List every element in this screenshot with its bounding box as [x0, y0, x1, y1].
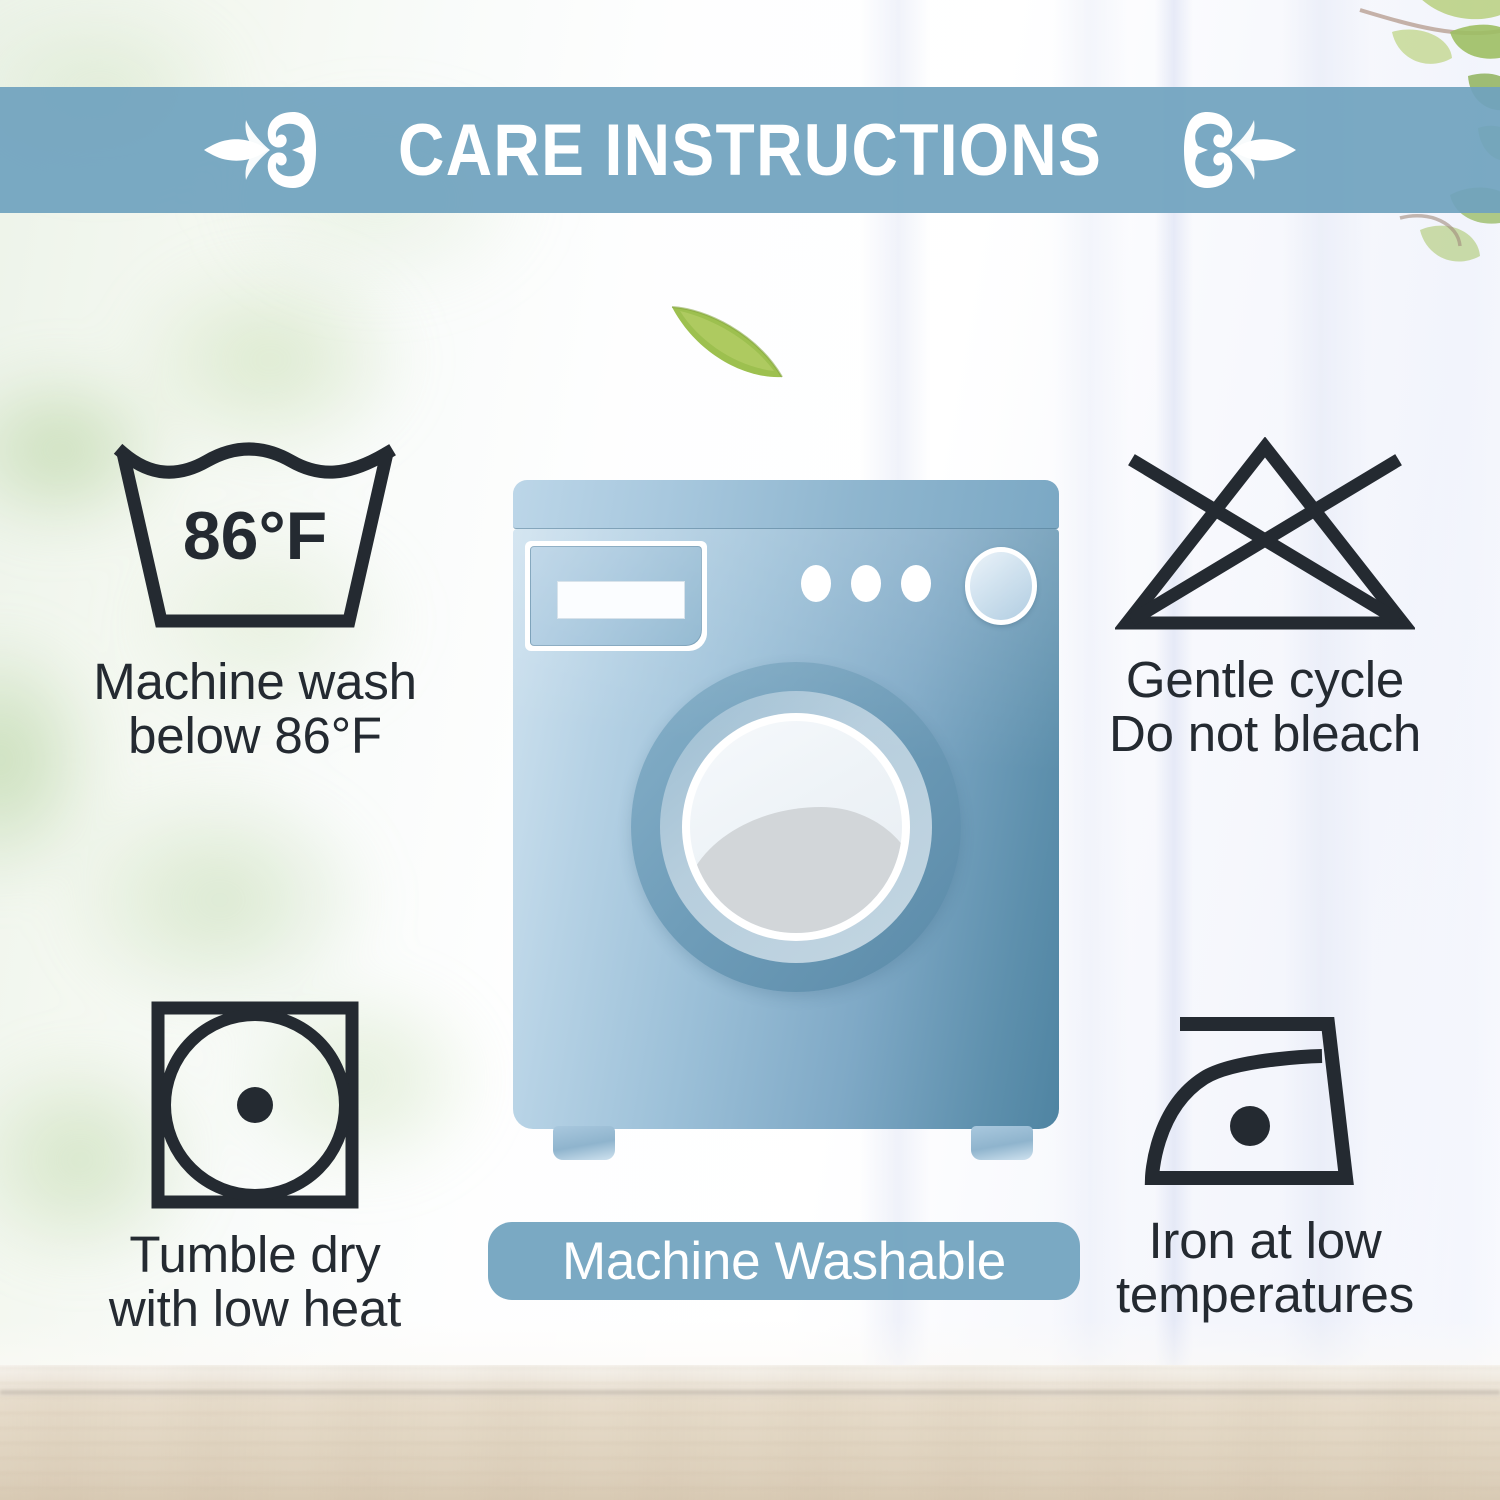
fleur-de-lis-ornament-icon-left: [198, 102, 316, 198]
washer-door-glass: [690, 721, 902, 933]
instruction-iron-low-temp: Iron at low temperatures: [1040, 1000, 1490, 1322]
fleur-de-lis-ornament-icon-right: [1184, 102, 1302, 198]
detergent-drawer-face: [530, 546, 702, 646]
indicator-lights: [801, 565, 931, 602]
iron-low-temperature-icon: [1140, 1000, 1390, 1196]
instruction-gentle-cycle-no-bleach: Gentle cycle Do not bleach: [1040, 437, 1490, 761]
wash-temperature-value: 86°F: [183, 498, 327, 574]
page-title: CARE INSTRUCTIONS: [398, 114, 1102, 187]
washer-body: [513, 529, 1059, 1129]
detergent-drawer[interactable]: [525, 541, 707, 651]
indicator-light-1: [801, 565, 831, 602]
laundry-inside-drum: [690, 807, 902, 933]
instruction-caption-gentle-cycle: Gentle cycle Do not bleach: [1109, 653, 1421, 761]
table-front-edge: [0, 1389, 1500, 1396]
instruction-caption-iron: Iron at low temperatures: [1116, 1214, 1414, 1322]
washer-foot-right: [971, 1126, 1033, 1160]
front-load-washing-machine-illustration: [505, 480, 1065, 1170]
instruction-caption-machine-wash: Machine wash below 86°F: [93, 655, 417, 763]
indicator-light-3: [901, 565, 931, 602]
do-not-bleach-triangle-crossed-icon: [1115, 437, 1415, 635]
instruction-tumble-dry-low: Tumble dry with low heat: [35, 1000, 475, 1336]
care-instructions-poster: CARE INSTRUCTIONS 86°F Machine wash belo…: [0, 0, 1500, 1500]
tumble-dry-low-heat-icon: [150, 1000, 360, 1210]
header-banner: CARE INSTRUCTIONS: [0, 87, 1500, 213]
instruction-machine-wash: 86°F Machine wash below 86°F: [35, 437, 475, 763]
washer-door[interactable]: [631, 662, 961, 992]
indicator-light-2: [851, 565, 881, 602]
wash-tub-icon: 86°F: [105, 437, 405, 637]
washer-top-lid: [513, 480, 1059, 529]
program-selector-knob[interactable]: [965, 547, 1037, 625]
washer-door-bezel: [660, 691, 932, 963]
washer-door-ring: [682, 713, 910, 941]
wood-grain-texture: [0, 1365, 1500, 1500]
machine-washable-badge: Machine Washable: [488, 1222, 1080, 1300]
washer-foot-left: [553, 1126, 615, 1160]
detergent-drawer-slot: [557, 581, 685, 619]
machine-washable-label: Machine Washable: [562, 1235, 1006, 1288]
